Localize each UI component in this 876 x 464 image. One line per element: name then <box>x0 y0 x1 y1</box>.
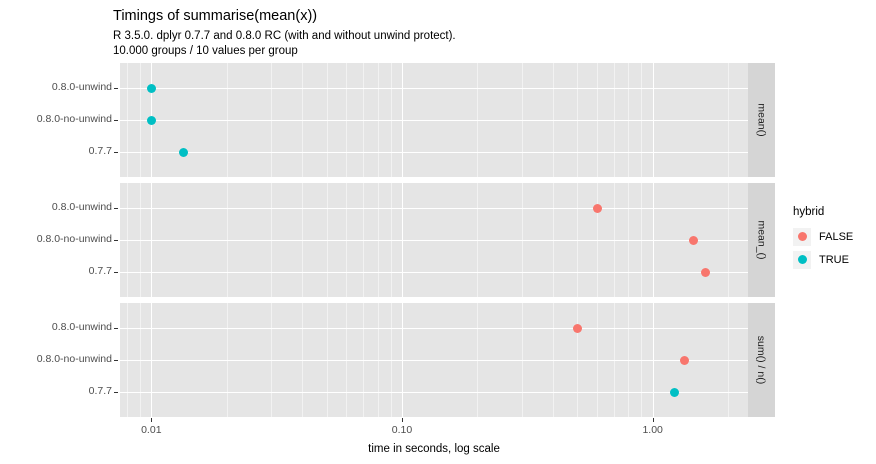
chart-subtitle-line-1: R 3.5.0. dplyr 0.7.7 and 0.8.0 RC (with … <box>113 29 456 44</box>
data-point[interactable] <box>179 148 188 157</box>
chart-plot-area: Timings of summarise(mean(x)) R 3.5.0. d… <box>0 0 876 464</box>
data-point[interactable] <box>701 268 710 277</box>
y-axis-tick-text: 0.7.7 <box>89 265 112 277</box>
grid-line-horizontal <box>120 360 748 361</box>
x-axis-title: time in seconds, log scale <box>120 443 748 455</box>
legend-item-label: FALSE <box>819 231 853 243</box>
legend-item[interactable]: TRUE <box>793 248 853 271</box>
y-axis-tick-text: 0.8.0-unwind <box>52 321 112 333</box>
y-axis-tick-mark <box>114 152 118 153</box>
x-axis-tick-label: 1.00 <box>642 424 662 436</box>
facet-strip-label: mean() <box>748 63 775 177</box>
grid-line-horizontal <box>120 272 748 273</box>
grid-line-horizontal <box>120 328 748 329</box>
facet-strip-label: sum() / n() <box>748 303 775 417</box>
y-axis-tick-text: 0.7.7 <box>89 145 112 157</box>
grid-line-horizontal <box>120 240 748 241</box>
legend-item[interactable]: FALSE <box>793 225 853 248</box>
grid-line-horizontal <box>120 88 748 89</box>
y-axis-tick-text: 0.8.0-no-unwind <box>37 233 112 245</box>
y-axis-tick-mark <box>114 240 118 241</box>
facet-strip-text: sum() / n() <box>756 336 768 384</box>
legend-key-swatch <box>793 251 811 269</box>
chart-subtitle: R 3.5.0. dplyr 0.7.7 and 0.8.0 RC (with … <box>113 29 456 59</box>
y-axis-tick-mark <box>114 328 118 329</box>
facet-panel <box>120 303 748 417</box>
legend: hybrid FALSETRUE <box>793 206 853 271</box>
data-point[interactable] <box>689 236 698 245</box>
facet-strip-label: mean_() <box>748 183 775 297</box>
x-axis-tick-mark <box>653 418 654 422</box>
data-point[interactable] <box>573 324 582 333</box>
legend-key-swatch <box>793 228 811 246</box>
data-point[interactable] <box>147 84 156 93</box>
grid-line-horizontal <box>120 208 748 209</box>
facet-panel <box>120 183 748 297</box>
legend-item-label: TRUE <box>819 254 849 266</box>
y-axis-tick-mark <box>114 392 118 393</box>
y-axis-tick-text: 0.7.7 <box>89 385 112 397</box>
legend-title: hybrid <box>793 206 853 218</box>
facet-strip-text: mean_() <box>756 220 768 259</box>
legend-entries: FALSETRUE <box>793 225 853 271</box>
y-axis-tick-text: 0.8.0-unwind <box>52 201 112 213</box>
x-axis-tick-mark <box>402 418 403 422</box>
chart-subtitle-line-2: 10.000 groups / 10 values per group <box>113 44 456 59</box>
y-axis-tick-mark <box>114 360 118 361</box>
facet-strip-text: mean() <box>756 103 768 136</box>
y-axis-tick-mark <box>114 272 118 273</box>
grid-line-horizontal <box>120 120 748 121</box>
y-axis-tick-text: 0.8.0-unwind <box>52 81 112 93</box>
grid-line-horizontal <box>120 392 748 393</box>
data-point[interactable] <box>593 204 602 213</box>
y-axis-tick-text: 0.8.0-no-unwind <box>37 353 112 365</box>
legend-dot-icon <box>798 232 807 241</box>
x-axis-tick-mark <box>151 418 152 422</box>
chart-title: Timings of summarise(mean(x)) <box>113 8 317 24</box>
data-point[interactable] <box>680 356 689 365</box>
y-axis-tick-mark <box>114 208 118 209</box>
facet-panel <box>120 63 748 177</box>
y-axis-tick-mark <box>114 88 118 89</box>
data-point[interactable] <box>147 116 156 125</box>
x-axis-tick-label: 0.01 <box>141 424 161 436</box>
data-point[interactable] <box>670 388 679 397</box>
y-axis-tick-mark <box>114 120 118 121</box>
y-axis-tick-text: 0.8.0-no-unwind <box>37 113 112 125</box>
grid-line-horizontal <box>120 152 748 153</box>
legend-dot-icon <box>798 255 807 264</box>
x-axis-tick-label: 0.10 <box>392 424 412 436</box>
